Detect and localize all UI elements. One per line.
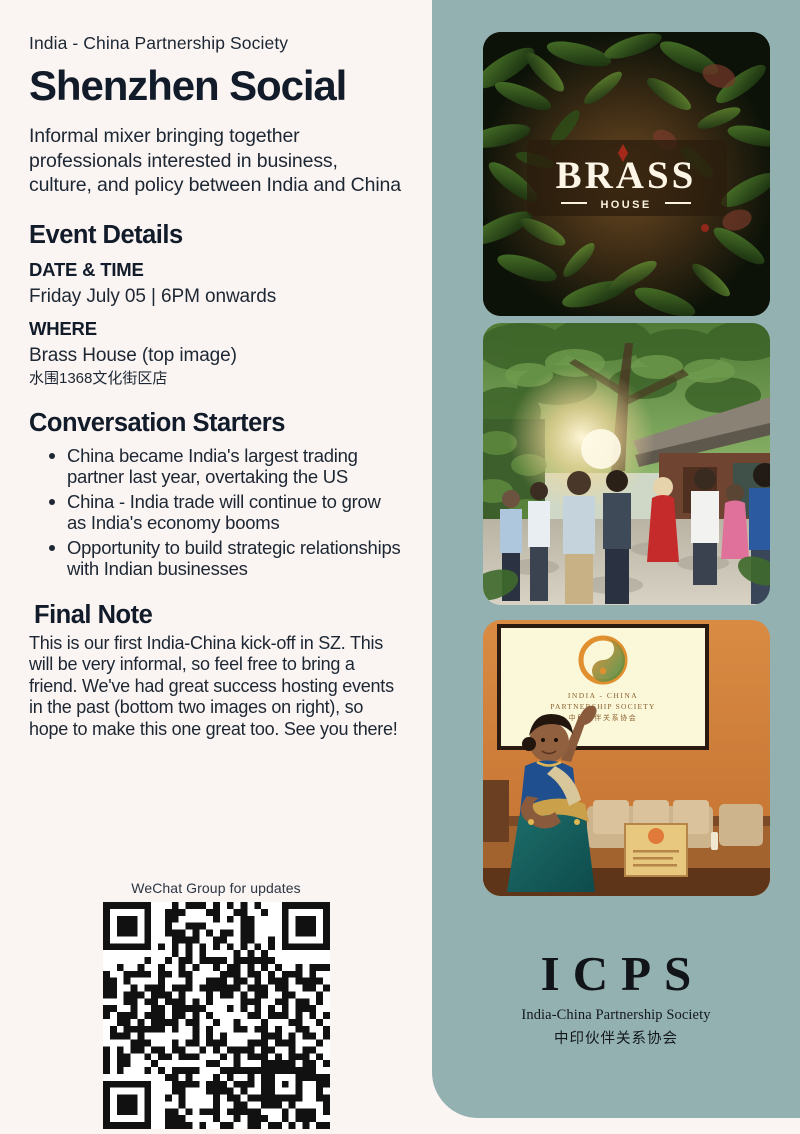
final-note-section: Final Note This is our first India-China… xyxy=(29,601,404,741)
indian-dance-performance-photo: INDIA - CHINA PARTNERSHIP SOCIETY 中印伙伴关系… xyxy=(483,620,770,896)
event-details-section: Event Details DATE & TIME Friday July 05… xyxy=(29,221,404,389)
where-value-chinese: 水围1368文化街区店 xyxy=(29,370,404,389)
organisation-line: India - China Partnership Society xyxy=(29,33,404,54)
wechat-qr-caption: WeChat Group for updates xyxy=(0,880,432,896)
wechat-qr-block: WeChat Group for updates xyxy=(0,880,432,1134)
brass-house-sign-photo: BRASS HOUSE xyxy=(483,32,770,316)
icps-wordmark: ICPS xyxy=(432,948,800,999)
svg-text:BRASS: BRASS xyxy=(556,154,697,197)
event-details-heading: Event Details xyxy=(29,221,404,250)
conversation-starters-section: Conversation Starters China became India… xyxy=(29,409,404,580)
svg-text:PARTNERSHIP SOCIETY: PARTNERSHIP SOCIETY xyxy=(550,702,655,711)
icps-subtitle-en: India-China Partnership Society xyxy=(432,1007,800,1024)
list-item: Opportunity to build strategic relations… xyxy=(49,537,404,580)
icps-subtitle-zh: 中印伙伴关系协会 xyxy=(432,1027,800,1048)
dance-photo-art: INDIA - CHINA PARTNERSHIP SOCIETY 中印伙伴关系… xyxy=(483,620,770,896)
page-title: Shenzhen Social xyxy=(29,65,404,107)
svg-text:HOUSE: HOUSE xyxy=(600,199,651,211)
final-note-body: This is our first India-China kick-off i… xyxy=(29,633,404,741)
qr-code-icon[interactable] xyxy=(103,902,330,1129)
where-label: WHERE xyxy=(29,318,404,340)
courtyard-photo-art xyxy=(483,323,770,605)
brass-house-photo-art: BRASS HOUSE xyxy=(483,32,770,316)
conversation-starters-heading: Conversation Starters xyxy=(29,409,404,438)
courtyard-gathering-photo xyxy=(483,323,770,605)
where-value: Brass House (top image) xyxy=(29,344,404,369)
list-item: China - India trade will continue to gro… xyxy=(49,491,404,534)
final-note-heading: Final Note xyxy=(29,601,404,630)
conversation-starters-list: China became India's largest trading par… xyxy=(29,445,404,580)
date-time-label: DATE & TIME xyxy=(29,259,404,281)
date-time-value: Friday July 05 | 6PM onwards xyxy=(29,285,404,310)
event-lede: Informal mixer bringing together profess… xyxy=(29,124,404,198)
qr-code-matrix xyxy=(103,902,330,1129)
list-item: China became India's largest trading par… xyxy=(49,445,404,488)
icps-logo-block: ICPS India-China Partnership Society 中印伙… xyxy=(432,948,800,1048)
svg-text:INDIA - CHINA: INDIA - CHINA xyxy=(568,691,638,700)
